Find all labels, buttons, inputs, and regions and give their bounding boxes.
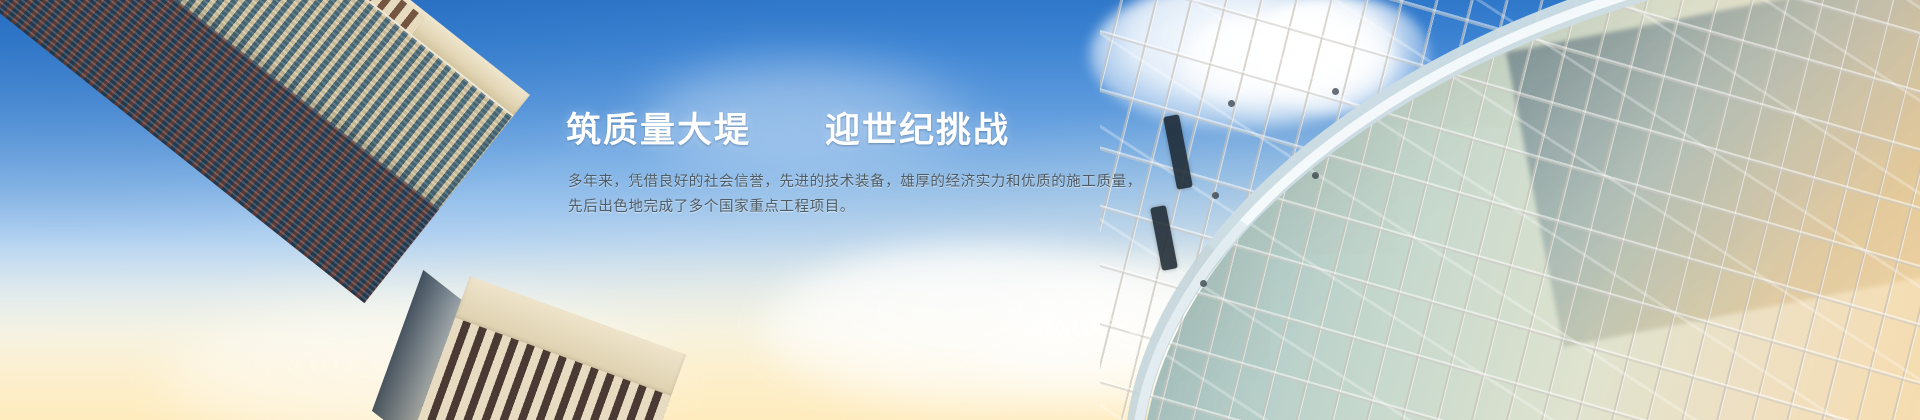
tower-right-fixing-dot [1228,100,1235,107]
tower-right-fixing-dot [1212,192,1219,199]
banner-copy: 筑质量大堤 迎世纪挑战 多年来，凭借良好的社会信誉，先进的技术装备，雄厚的经济实… [566,108,1186,220]
banner-subtitle-line-2: 先后出色地完成了多个国家重点工程项目。 [568,195,1186,220]
tower-right-fixing-dot [1312,172,1319,179]
banner-subtitle-line-1: 多年来，凭借良好的社会信誉，先进的技术装备，雄厚的经济实力和优质的施工质量， [568,170,1186,195]
banner-subtitle: 多年来，凭借良好的社会信誉，先进的技术装备，雄厚的经济实力和优质的施工质量， 先… [568,170,1186,220]
tower-right-fixing-dot [1332,88,1339,95]
hero-banner: 筑质量大堤 迎世纪挑战 多年来，凭借良好的社会信誉，先进的技术装备，雄厚的经济实… [0,0,1920,420]
banner-headline: 筑质量大堤 迎世纪挑战 [566,108,1186,154]
curved-glass-tower-right [1100,0,1920,420]
tower-right-fixing-dot [1200,280,1207,287]
